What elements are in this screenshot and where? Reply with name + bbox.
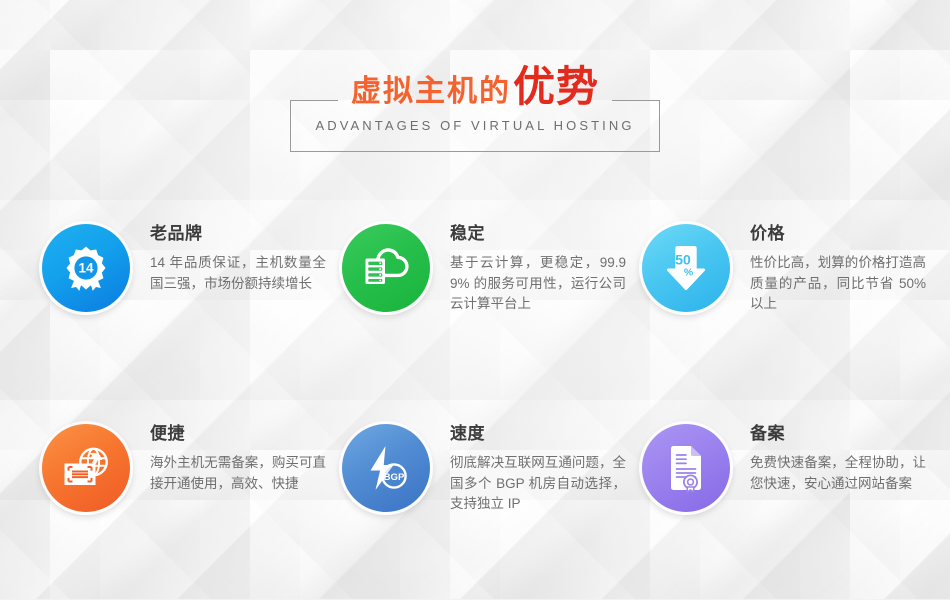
card-text-block: 速度 彻底解决互联网互通问题，全国多个 BGP 机房自动选择，支持独立 IP <box>450 424 626 515</box>
svg-text:%: % <box>684 267 694 279</box>
icon-wrapper: BGP <box>342 424 430 512</box>
card-text-block: 备案 免费快速备案，全程协助，让您快速，安心通过网站备案 <box>750 424 926 494</box>
page-title: 虚拟主机的优势 <box>0 66 950 108</box>
icon-wrapper <box>42 424 130 512</box>
page-title-prefix: 虚拟主机的 <box>351 75 511 108</box>
icon-wrapper <box>342 224 430 312</box>
card-text-block: 老品牌 14 年品质保证，主机数量全国三强，市场份额持续增长 <box>150 224 326 294</box>
card-title: 价格 <box>750 224 926 244</box>
card-title: 老品牌 <box>150 224 326 244</box>
card-text-block: 稳定 基于云计算，更稳定，99.99% 的服务可用性，运行公司云计算平台上 <box>450 224 626 315</box>
card-title: 便捷 <box>150 424 326 444</box>
card-description: 彻底解决互联网互通问题，全国多个 BGP 机房自动选择，支持独立 IP <box>450 453 626 515</box>
icon-wrapper: 50 % <box>642 224 730 312</box>
globe-card-icon <box>42 424 130 512</box>
card-description: 海外主机无需备案，购买可直接开通使用，高效、快捷 <box>150 453 326 494</box>
card-text-block: 价格 性价比高，划算的价格打造高质量的产品，同比节省 50% 以上 <box>750 224 926 315</box>
icon-wrapper <box>642 424 730 512</box>
card-description: 基于云计算，更稳定，99.99% 的服务可用性，运行公司云计算平台上 <box>450 253 626 315</box>
advantages-row-1: 14 老品牌 14 年品质保证，主机数量全国三强，市场份额持续增长 <box>0 200 950 400</box>
award-badge-icon: 14 <box>42 224 130 312</box>
discount-arrow-icon: 50 % <box>642 224 730 312</box>
card-description: 免费快速备案，全程协助，让您快速，安心通过网站备案 <box>750 453 926 494</box>
svg-text:14: 14 <box>78 261 94 276</box>
lightning-bgp-icon: BGP <box>342 424 430 512</box>
page-title-accent: 优势 <box>513 63 599 110</box>
svg-text:BGP: BGP <box>384 472 405 483</box>
advantages-row-2: 便捷 海外主机无需备案，购买可直接开通使用，高效、快捷 BGP <box>0 400 950 600</box>
certificate-seal-icon <box>642 424 730 512</box>
card-title: 备案 <box>750 424 926 444</box>
card-description: 14 年品质保证，主机数量全国三强，市场份额持续增长 <box>150 253 326 294</box>
card-title: 速度 <box>450 424 626 444</box>
cloud-server-icon <box>342 224 430 312</box>
card-text-block: 便捷 海外主机无需备案，购买可直接开通使用，高效、快捷 <box>150 424 326 494</box>
advantages-grid: 14 老品牌 14 年品质保证，主机数量全国三强，市场份额持续增长 <box>0 200 950 600</box>
card-description: 性价比高，划算的价格打造高质量的产品，同比节省 50% 以上 <box>750 253 926 315</box>
page-root: 虚拟主机的优势 ADVANTAGES OF VIRTUAL HOSTING 14 <box>0 0 950 599</box>
icon-wrapper: 14 <box>42 224 130 312</box>
card-title: 稳定 <box>450 224 626 244</box>
section-header: 虚拟主机的优势 ADVANTAGES OF VIRTUAL HOSTING <box>0 0 950 190</box>
svg-text:50: 50 <box>675 252 691 268</box>
